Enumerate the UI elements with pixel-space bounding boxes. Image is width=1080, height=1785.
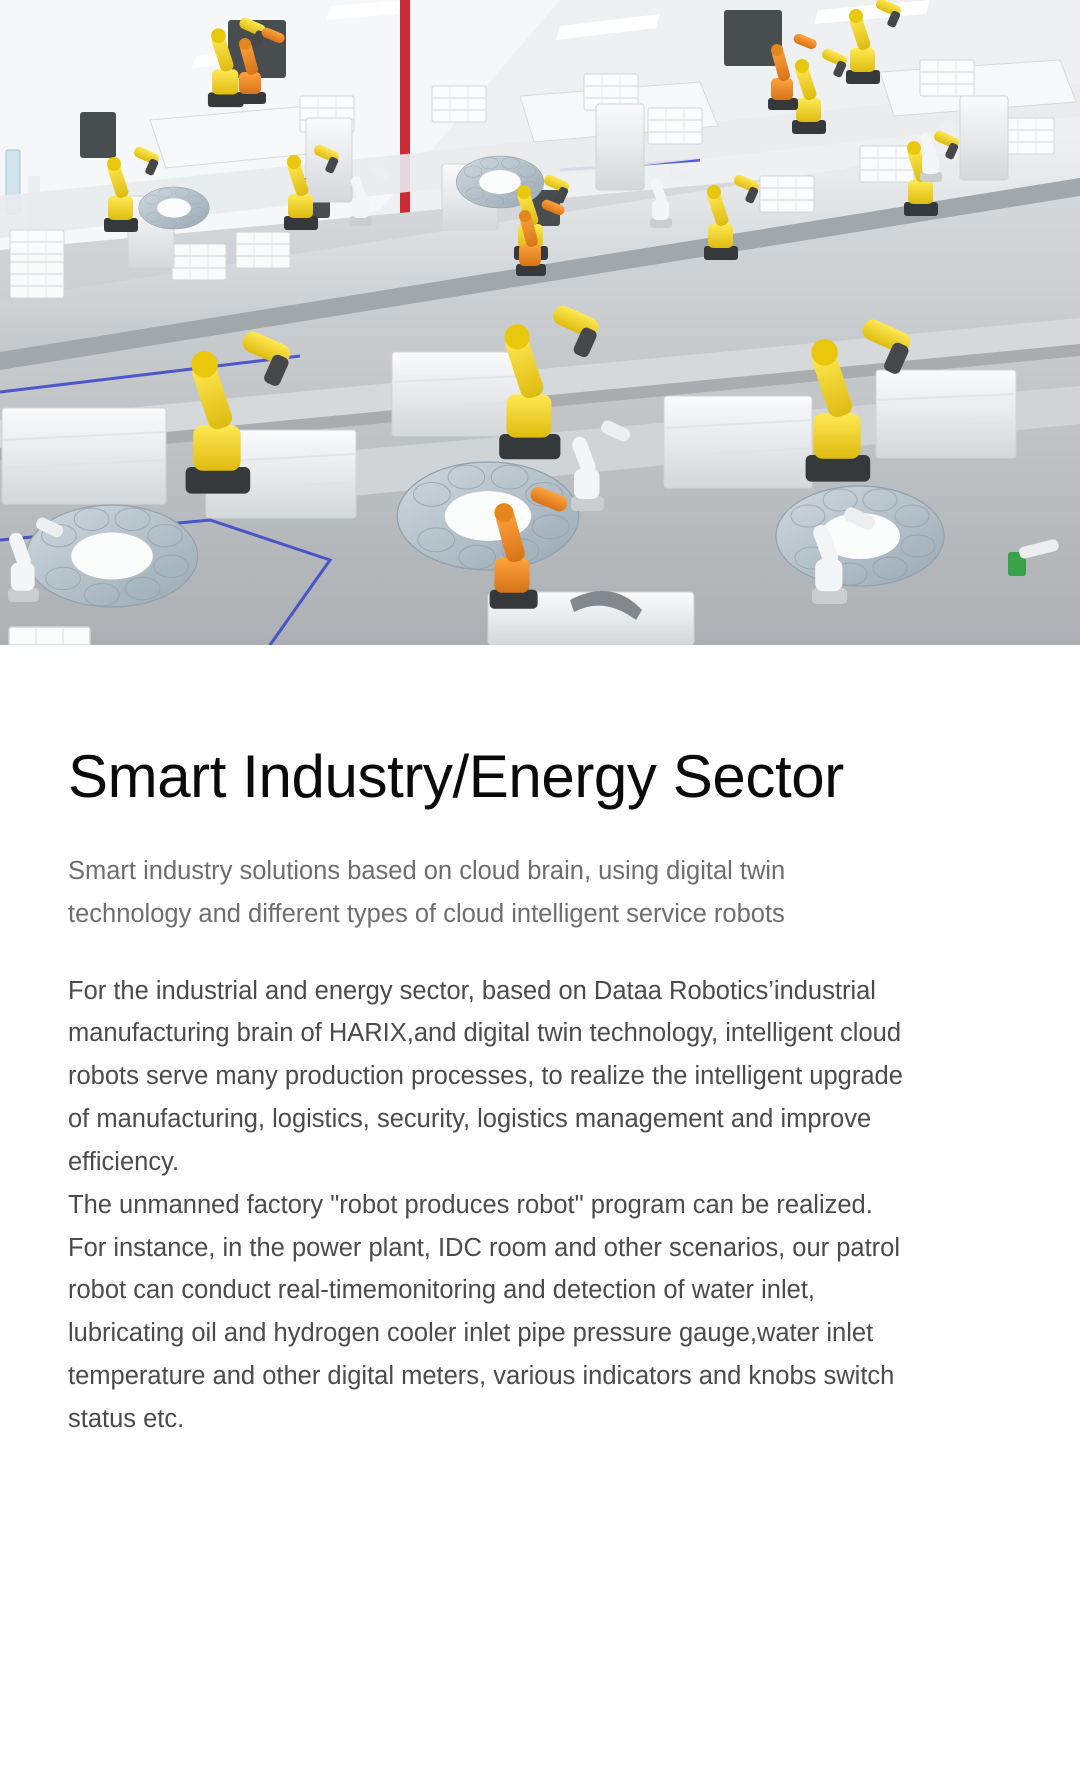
bottom-spacer — [68, 1441, 1012, 1591]
body-paragraphs: For the industrial and energy sector, ba… — [68, 970, 913, 1441]
article-page: Smart Industry/Energy Sector Smart indus… — [0, 0, 1080, 1785]
hero-image-smart-factory — [0, 0, 1080, 645]
body-paragraph-1: For the industrial and energy sector, ba… — [68, 970, 913, 1184]
page-title: Smart Industry/Energy Sector — [68, 645, 1012, 808]
body-paragraph-3: For instance, in the power plant, IDC ro… — [68, 1227, 913, 1441]
factory-scene-illustration — [0, 0, 1080, 645]
article-content: Smart Industry/Energy Sector Smart indus… — [0, 645, 1080, 1591]
lead-paragraph: Smart industry solutions based on cloud … — [68, 850, 898, 936]
body-paragraph-2: The unmanned factory "robot produces rob… — [68, 1184, 913, 1227]
